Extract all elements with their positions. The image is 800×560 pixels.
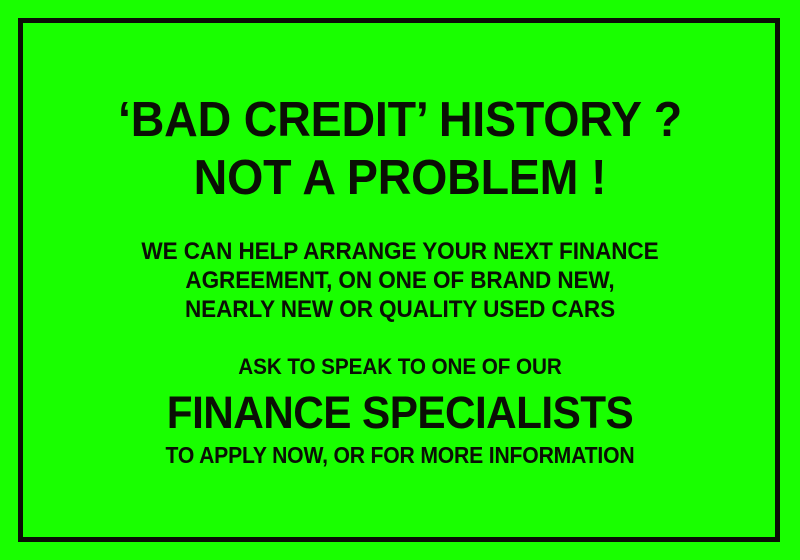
headline-line-2: NOT A PROBLEM ! bbox=[20, 154, 780, 203]
headline-line-1: ‘BAD CREDIT’ HISTORY ? bbox=[20, 96, 780, 145]
cta-footer-text: TO APPLY NOW, OR FOR MORE INFORMATION bbox=[32, 444, 768, 467]
body-line-2: AGREEMENT, ON ONE OF BRAND NEW, bbox=[32, 269, 768, 294]
cta-lead-text: ASK TO SPEAK TO ONE OF OUR bbox=[32, 356, 768, 379]
advertisement-poster: ‘BAD CREDIT’ HISTORY ? NOT A PROBLEM ! W… bbox=[0, 0, 800, 560]
body-line-3: NEARLY NEW OR QUALITY USED CARS bbox=[32, 298, 768, 323]
cta-headline-text: FINANCE SPECIALISTS bbox=[24, 390, 776, 435]
poster-content: ‘BAD CREDIT’ HISTORY ? NOT A PROBLEM ! W… bbox=[0, 0, 800, 560]
body-line-1: WE CAN HELP ARRANGE YOUR NEXT FINANCE bbox=[32, 240, 768, 265]
